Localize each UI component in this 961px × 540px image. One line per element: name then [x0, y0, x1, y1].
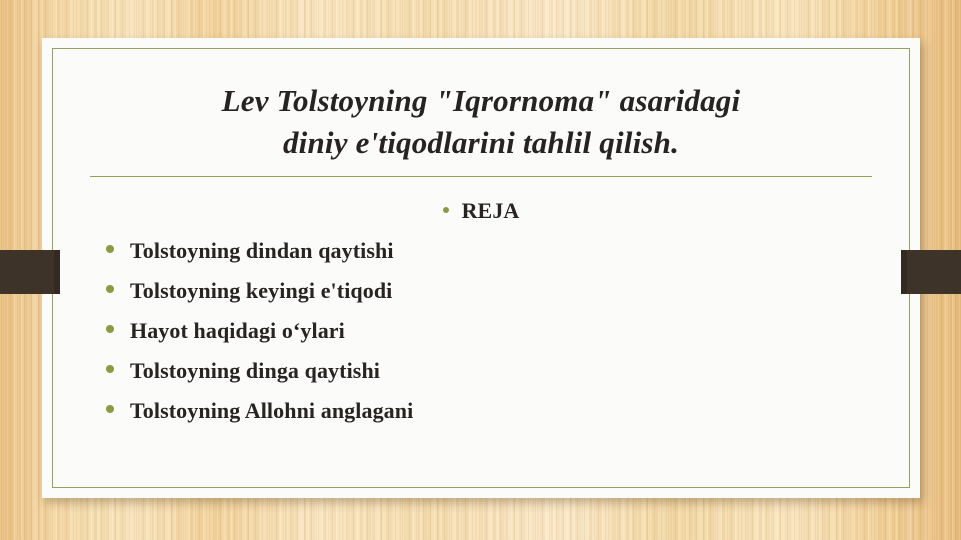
title-divider: [90, 176, 872, 177]
slide-title: Lev Tolstoyning "Iqrornoma" asaridagi di…: [70, 38, 892, 164]
bullet-dot-icon: [106, 405, 114, 413]
card-content: Lev Tolstoyning "Iqrornoma" asaridagi di…: [42, 38, 920, 498]
list-item: Tolstoyning dindan qaytishi: [70, 231, 892, 271]
list-item-label: Hayot haqidagi o‘ylari: [130, 311, 345, 351]
list-item: Tolstoyning Allohni anglagani: [70, 391, 892, 431]
bullet-dot-icon: [106, 285, 114, 293]
agenda-list: REJA Tolstoyning dindan qaytishi Tolstoy…: [70, 191, 892, 431]
agenda-heading-item: REJA: [70, 191, 892, 231]
bullet-dot-icon: [443, 207, 449, 213]
slide-title-line-1: Lev Tolstoyning "Iqrornoma" asaridagi: [222, 83, 741, 118]
content-card: Lev Tolstoyning "Iqrornoma" asaridagi di…: [42, 38, 920, 498]
slide-title-line-2: diniy e'tiqodlarini tahlil qilish.: [283, 125, 679, 160]
list-item: Hayot haqidagi o‘ylari: [70, 311, 892, 351]
slide-canvas: Lev Tolstoyning "Iqrornoma" asaridagi di…: [0, 0, 961, 540]
bullet-dot-icon: [106, 325, 114, 333]
list-item-label: Tolstoyning keyingi e'tiqodi: [130, 271, 392, 311]
bullet-dot-icon: [106, 365, 114, 373]
agenda-heading-label: REJA: [462, 191, 520, 231]
list-item-label: Tolstoyning dinga qaytishi: [130, 351, 380, 391]
list-item-label: Tolstoyning dindan qaytishi: [130, 231, 394, 271]
list-item-label: Tolstoyning Allohni anglagani: [130, 391, 413, 431]
list-item: Tolstoyning keyingi e'tiqodi: [70, 271, 892, 311]
bullet-dot-icon: [106, 245, 114, 253]
decorative-ribbon-left: [0, 250, 60, 294]
list-item: Tolstoyning dinga qaytishi: [70, 351, 892, 391]
decorative-ribbon-right: [901, 250, 961, 294]
